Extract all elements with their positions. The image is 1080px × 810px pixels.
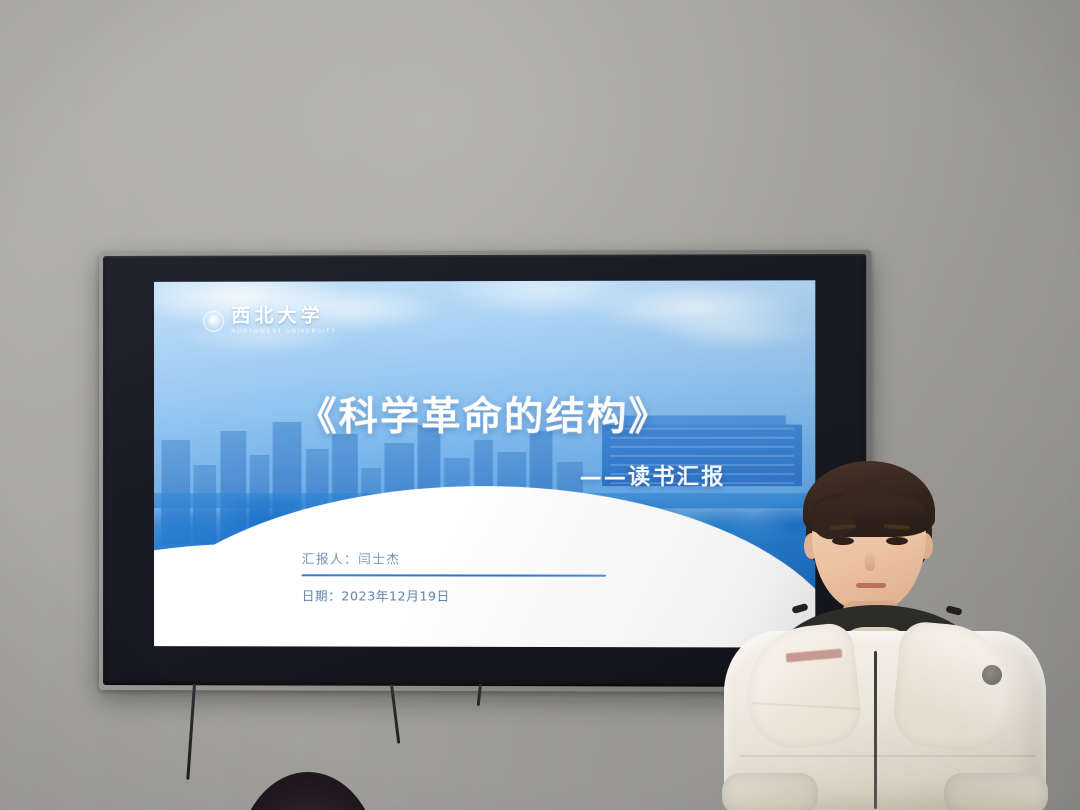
hood-drawstring-toggle	[791, 603, 808, 614]
jacket-sleeve-badge	[982, 665, 1002, 685]
jacket-sleeve-left	[722, 773, 818, 810]
slide-title: 《科学革命的结构》	[154, 385, 815, 442]
cloud-shape	[656, 312, 816, 349]
jacket-seam	[740, 755, 1036, 757]
presenter-line: 汇报人：闫士杰	[302, 548, 606, 567]
university-name-en: NORTHWEST UNIVERSITY	[231, 329, 336, 335]
jacket-sleeve-right	[944, 773, 1048, 810]
jacket-zipper	[874, 651, 877, 809]
person-fringe	[816, 495, 924, 521]
university-seal-icon	[203, 311, 224, 332]
person-mouth	[856, 583, 886, 588]
room-wall: 西北大学 NORTHWEST UNIVERSITY 《科学革命的结构》 ——读书…	[0, 0, 1080, 810]
seated-person-head	[236, 772, 380, 810]
slide-meta-block: 汇报人：闫士杰 日期：2023年12月19日	[302, 548, 606, 605]
standing-person	[700, 455, 1080, 810]
university-logo: 西北大学 NORTHWEST UNIVERSITY	[203, 307, 337, 335]
date-line: 日期：2023年12月19日	[302, 586, 606, 606]
hood-drawstring-toggle	[945, 605, 962, 616]
university-name-cn: 西北大学	[231, 307, 336, 326]
person-eye-left	[832, 537, 854, 545]
hanging-cable	[390, 684, 400, 744]
hanging-cable	[186, 684, 196, 780]
person-nose	[865, 551, 875, 571]
meta-divider	[302, 574, 606, 577]
person-eye-right	[886, 537, 908, 545]
